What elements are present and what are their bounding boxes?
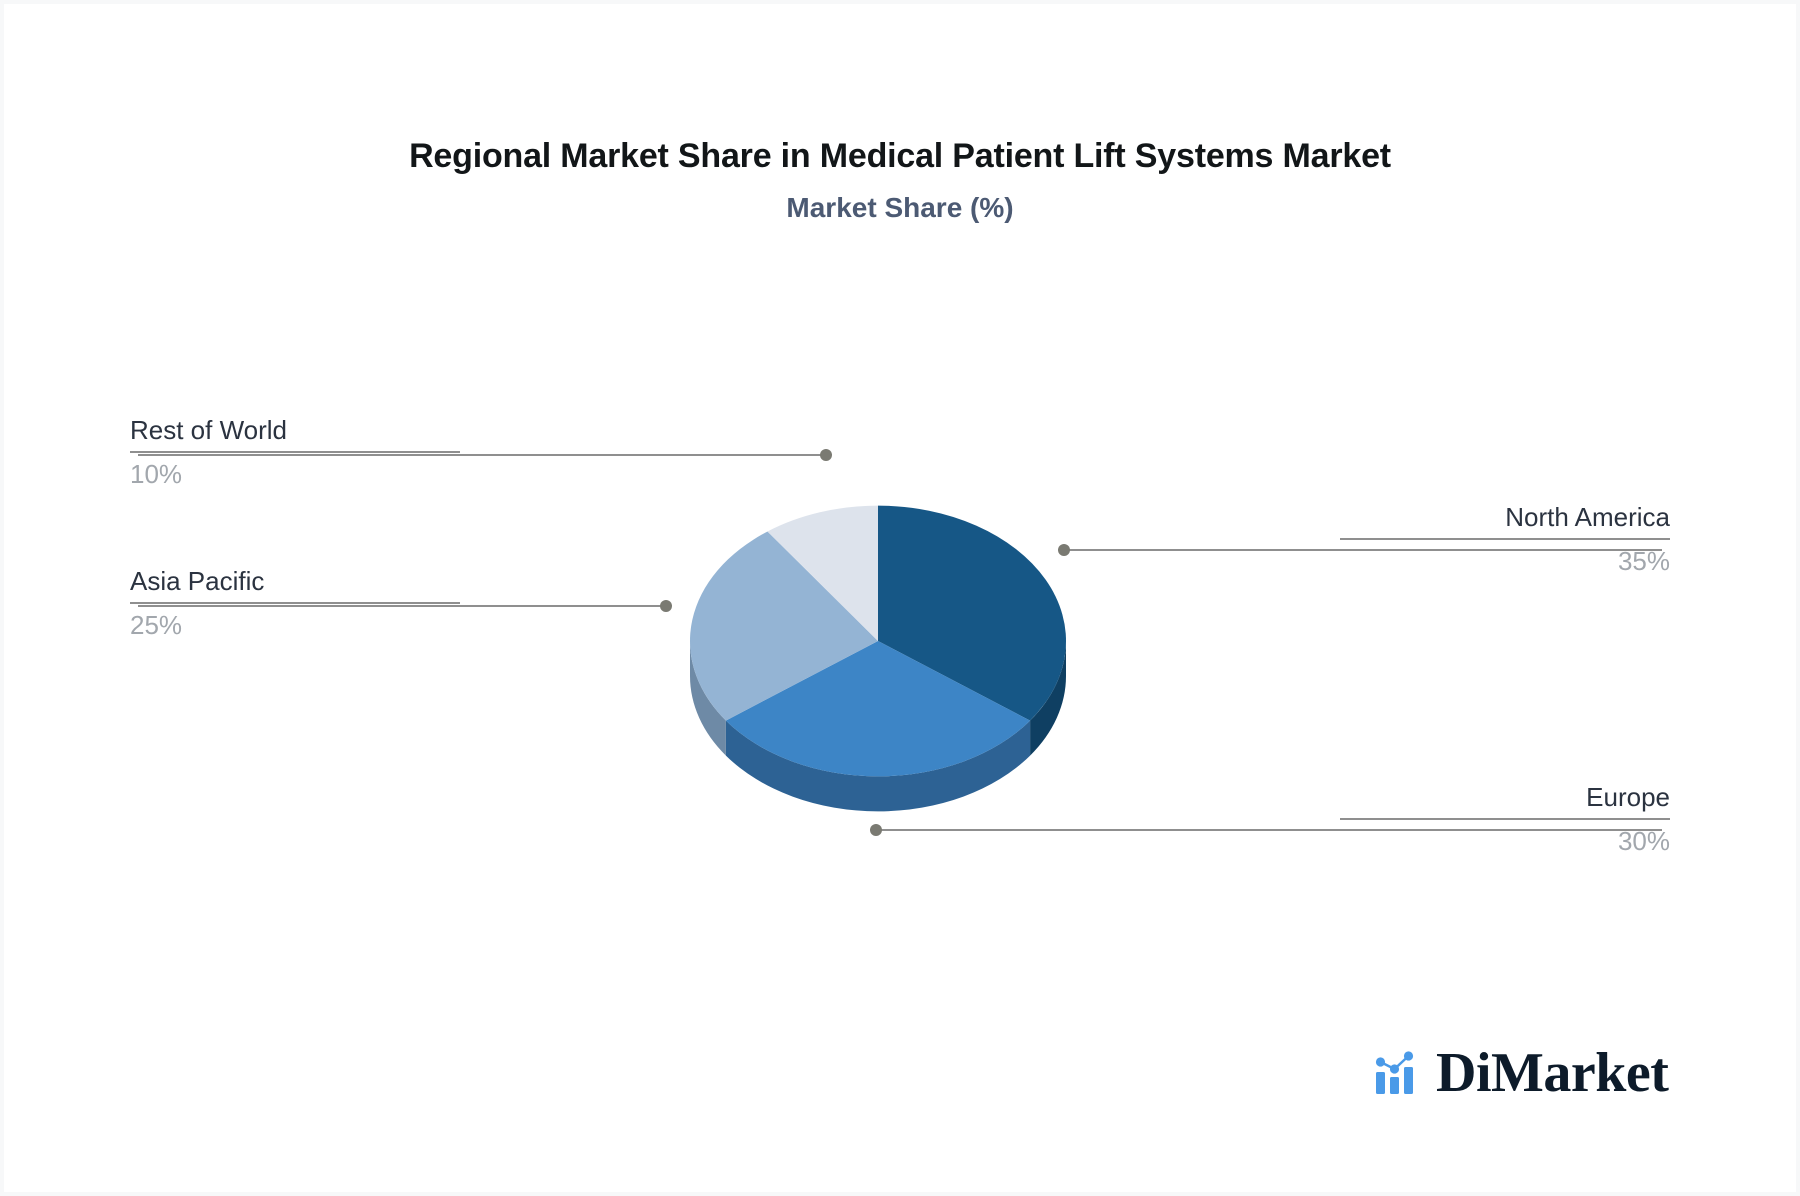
callout-rule <box>130 602 460 604</box>
callout-label-north-america: North America <box>1340 501 1670 533</box>
leader-dot-rest-of-world <box>820 449 832 461</box>
leader-dot-north-america <box>1058 544 1070 556</box>
callout-rule <box>130 451 460 453</box>
callout-label-europe: Europe <box>1340 781 1670 813</box>
callout-value-rest-of-world: 10% <box>130 458 460 490</box>
callout-europe[interactable]: Europe 30% <box>1340 781 1670 857</box>
callout-value-north-america: 35% <box>1340 545 1670 577</box>
callout-rule <box>1340 818 1670 820</box>
callout-value-europe: 30% <box>1340 825 1670 857</box>
callout-label-rest-of-world: Rest of World <box>130 414 460 446</box>
leader-dot-europe <box>870 824 882 836</box>
brand-logo[interactable]: DiMarket <box>1374 1042 1668 1104</box>
callout-asia-pacific[interactable]: Asia Pacific 25% <box>130 565 460 641</box>
leader-dot-asia-pacific <box>660 600 672 612</box>
chart-card: Regional Market Share in Medical Patient… <box>4 4 1796 1192</box>
bar-chart-icon <box>1374 1050 1428 1096</box>
callout-rest-of-world[interactable]: Rest of World 10% <box>130 414 460 490</box>
callout-north-america[interactable]: North America 35% <box>1340 501 1670 577</box>
callout-rule <box>1340 538 1670 540</box>
callout-label-asia-pacific: Asia Pacific <box>130 565 460 597</box>
callout-value-asia-pacific: 25% <box>130 609 460 641</box>
brand-name: DiMarket <box>1436 1045 1668 1101</box>
